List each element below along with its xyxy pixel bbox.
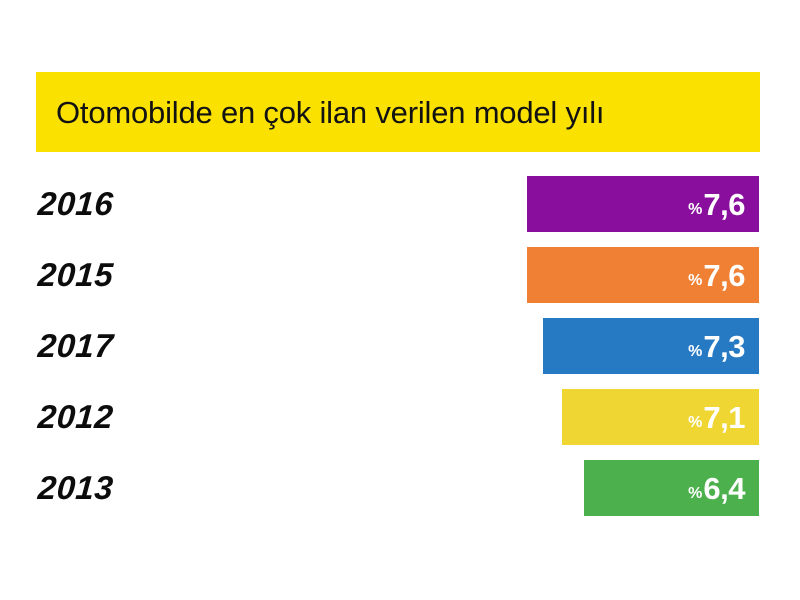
bar-track: % 6,4 <box>584 460 759 516</box>
bar-fill: % 7,6 <box>527 176 759 232</box>
infographic-bar-chart: Otomobilde en çok ilan verilen model yıl… <box>0 0 800 600</box>
percent-sign: % <box>688 344 702 360</box>
bar-fill: % 7,6 <box>527 247 759 303</box>
title-banner: Otomobilde en çok ilan verilen model yıl… <box>36 72 760 152</box>
percent-sign: % <box>688 486 702 502</box>
bar-value-label: % 7,6 <box>688 260 745 291</box>
bar-category-label: 2017 <box>36 318 115 374</box>
bar-row: 2016 % 7,6 <box>0 176 800 232</box>
bar-value-number: 7,1 <box>703 402 745 433</box>
chart-title: Otomobilde en çok ilan verilen model yıl… <box>56 97 604 128</box>
bar-track: % 7,6 <box>527 176 759 232</box>
bar-value-number: 7,6 <box>703 189 745 220</box>
bar-category-label: 2013 <box>36 460 115 516</box>
bar-value-number: 6,4 <box>703 473 745 504</box>
bar-row: 2013 % 6,4 <box>0 460 800 516</box>
bar-category-label: 2015 <box>36 247 115 303</box>
bar-fill: % 6,4 <box>584 460 759 516</box>
bar-row: 2015 % 7,6 <box>0 247 800 303</box>
percent-sign: % <box>688 202 702 218</box>
bar-value-label: % 7,6 <box>688 189 745 220</box>
bar-value-label: % 6,4 <box>688 473 745 504</box>
bar-value-label: % 7,3 <box>688 331 745 362</box>
percent-sign: % <box>688 273 702 289</box>
bar-value-number: 7,6 <box>703 260 745 291</box>
bar-value-number: 7,3 <box>703 331 745 362</box>
bar-track: % 7,1 <box>562 389 759 445</box>
bar-track: % 7,3 <box>543 318 759 374</box>
bar-fill: % 7,3 <box>543 318 759 374</box>
bar-row: 2017 % 7,3 <box>0 318 800 374</box>
bar-track: % 7,6 <box>527 247 759 303</box>
bar-category-label: 2016 <box>36 176 115 232</box>
bar-category-label: 2012 <box>36 389 115 445</box>
percent-sign: % <box>688 415 702 431</box>
bar-fill: % 7,1 <box>562 389 759 445</box>
bar-value-label: % 7,1 <box>688 402 745 433</box>
bar-chart-rows: 2016 % 7,6 2015 % 7,6 <box>0 176 800 524</box>
bar-row: 2012 % 7,1 <box>0 389 800 445</box>
